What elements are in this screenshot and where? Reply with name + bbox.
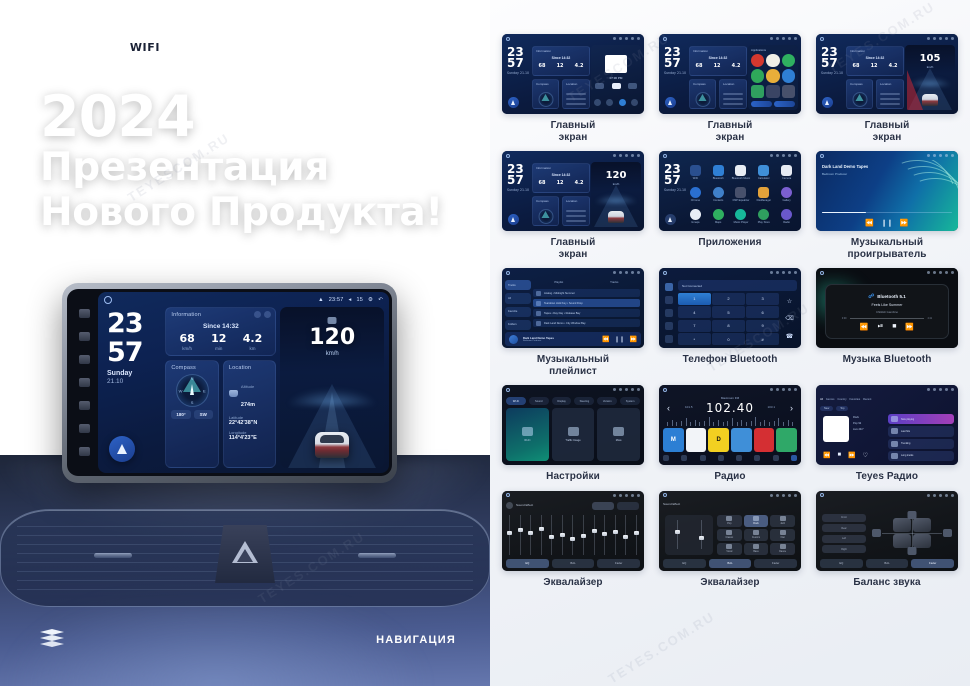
caption-line-1: Радио [714,471,745,482]
dial-key-1[interactable]: 1 [678,293,711,305]
side-key-power[interactable] [79,309,90,318]
app-camera[interactable]: Camera [776,162,797,182]
meta-station: Pop 92 [853,422,883,425]
app-icon-maps[interactable] [782,54,795,67]
preset-vocal[interactable]: Vocal [717,543,742,555]
grid-cell-apps[interactable]: 23 57 Sunday 21.10 WiFi Bluetooth Blueto… [659,151,801,260]
list-icon[interactable] [631,99,638,106]
latitude-value: 22°42'38"N [229,420,271,426]
sidebar-item-all[interactable]: All [505,293,531,303]
band-slider[interactable] [635,515,638,555]
slider-bass[interactable] [676,520,679,549]
thumb-location-lines [880,93,900,108]
app-drawer-grid[interactable]: WiFi Bluetooth Bluetooth Music Calculato… [685,162,797,227]
tab-playlist[interactable]: Playlist [533,280,585,287]
contacts-icon[interactable] [665,296,673,304]
grid-cell-equalizer-1[interactable]: Sound Effect [502,491,644,589]
device-side-buttons[interactable] [70,292,98,473]
sidebar-item-folders[interactable]: Folders [505,320,531,330]
compass-card[interactable]: Compass N S E W [165,360,219,468]
favorite-icon[interactable]: ♡ [863,452,868,459]
dial-key-3[interactable]: 3 [746,293,779,305]
search-icon[interactable] [665,309,673,317]
thumbnail-home-apps[interactable]: 23 57 Sunday 21.10 Information Since 14:… [659,34,801,114]
backspace-icon[interactable]: ⌫ [785,315,793,322]
tab-steering[interactable]: Steering [574,397,594,405]
station-name: Long tracks [901,454,913,457]
app-music-player[interactable]: Music Player [731,207,752,227]
tab-display[interactable]: Display [552,397,572,405]
list-item[interactable]: Last hits [888,426,954,436]
information-card[interactable]: Information Since 14:32 68 km/h [165,307,276,356]
preset-jazz[interactable]: Jazz [770,515,795,527]
balance-tabs[interactable]: EQ BAL Fader [820,559,954,568]
balance-down-button[interactable] [908,547,917,555]
app-icon-play-store[interactable] [751,85,764,98]
thumbnail-apps[interactable]: 23 57 Sunday 21.10 WiFi Bluetooth Blueto… [659,151,801,231]
thumb-stat-3: 4.2 [575,63,584,69]
compass-dial: N S E W [176,374,209,407]
teyes-radio-subtabs[interactable]: New Top [820,405,954,412]
band-slider[interactable] [571,515,574,555]
tab-bal[interactable]: BAL [552,559,595,568]
location-card[interactable]: Location Altitude 274m [223,360,277,468]
band-slider[interactable] [614,515,617,555]
thumb-compass-title: Compass [533,80,558,86]
dial-key-8[interactable]: 8 [712,320,745,332]
preset-flat[interactable]: Flat [770,529,795,541]
equalizer-header: Sound Effect [506,502,533,509]
thumbnail-equalizer-bands[interactable]: Sound Effect [502,491,644,571]
thumb-info-title: Information [533,164,589,170]
music-controls[interactable] [595,83,637,89]
phone-actions[interactable]: ☆ ⌫ ☎ [782,293,797,345]
thumb-drive-widget[interactable]: 105 km/h [905,45,955,110]
app-icon-contacts[interactable] [766,69,779,82]
list-item[interactable]: Analog • Midnight Summer [533,289,640,297]
app-label: WiFi [693,177,698,180]
tab-wifi[interactable]: Wi-Fi [506,397,526,405]
grid-cell-home-drive[interactable]: 23 57 Sunday 21.10 Information Since 14:… [502,151,644,260]
head-unit-device: ▲ 23:57 ◂ 15 ⚙ ↶ 23 57 Sunday [62,283,397,483]
pause-icon[interactable] [612,83,621,89]
playlist-list[interactable]: Playlist Tracks Analog • Midnight Summer… [533,280,640,330]
tab-eq[interactable]: EQ [820,559,863,568]
band-slider[interactable] [561,515,564,555]
settings-icon[interactable] [665,335,673,343]
preset-rock[interactable]: Rock [744,515,769,527]
stop-icon[interactable]: ■ [892,323,896,331]
radio-presets[interactable]: M D [663,428,797,452]
prev-icon[interactable]: ⏪ [823,452,830,459]
thumb-stat-1: 68 [853,63,860,69]
app-filemanager[interactable]: FileManager [753,184,774,204]
list-item[interactable]: Trending [888,439,954,449]
playlist-sidebar[interactable]: Tracks All Favorite Folders [505,280,531,330]
app-dsp-equalizer[interactable]: DSP Equalizer [731,184,752,204]
app-icon-grid[interactable] [782,85,795,98]
list-item[interactable]: Teardown Hold Key • Sound Drop [533,299,640,307]
app-icon-camera[interactable] [766,54,779,67]
app-radio[interactable]: Radio [776,207,797,227]
thumb-nav-fab[interactable] [665,97,676,108]
thumb-info-title: Information [533,47,589,53]
list-item[interactable]: Tapes • Day Day • Release Bay [533,309,640,317]
list-item[interactable]: Dark Land Demo • City Window Bay [533,319,640,327]
app-bluetooth-music[interactable]: Bluetooth Music [731,162,752,182]
app-icon-mail[interactable] [782,69,795,82]
loc-icon[interactable] [754,455,760,461]
teyes-radio-tabs[interactable]: All Genres Country Favorites Recent [820,396,954,403]
thumbnail-home-drive-red[interactable]: 23 57 Sunday 21.10 Information Since 14:… [816,34,958,114]
preset-6[interactable] [776,428,797,452]
status-volume-level: 15 [357,297,364,303]
next-icon[interactable]: ⏩ [900,219,909,227]
shuffle-icon[interactable] [594,99,601,106]
thumbnail-bluetooth-music[interactable]: ☍ Bluetooth 5.1 Feels Like Summer Childi… [816,268,958,348]
grid-cell-home-music[interactable]: 23 57 Sunday 21.10 Information Since 14:… [502,34,644,143]
track-artist: Childish Gambino [876,310,898,314]
music-extra-controls[interactable] [594,99,638,106]
dial-key-5[interactable]: 5 [712,306,745,318]
prev-icon[interactable] [595,83,604,89]
play-pause-icon[interactable]: ⏯ [878,323,884,331]
now-playing-text: Dark Land Demo Tapes Bedroom Producer [523,336,597,342]
app-icon-spotify[interactable] [751,69,764,82]
thumbnail-radio[interactable]: Maximum FM ‹ › 101.5 103.1 102.40 [659,385,801,465]
pause-icon[interactable]: ❙❙ [614,336,624,343]
thumb-clock-date: Sunday 21.10 [664,189,686,192]
altitude-value: 274m [241,402,255,408]
repeat-icon[interactable] [606,99,613,106]
hazard-button[interactable] [215,525,275,583]
radio-icon [781,209,792,220]
tab-eq[interactable]: EQ [663,559,706,568]
caption-line-1: Музыкальный [537,354,609,365]
star-icon[interactable]: ☆ [787,298,792,305]
thumb-drive-widget[interactable]: 120 km/h [591,162,641,227]
thumb-music-widget[interactable]: 07:30 PM [591,45,641,110]
back-button[interactable] [665,214,676,225]
dial-key-2[interactable]: 2 [712,293,745,305]
thumbnail-teyes-radio[interactable]: All Genres Country Favorites Recent New … [816,385,958,465]
app-icon-youtube[interactable] [751,54,764,67]
stop-icon[interactable]: ■ [837,452,841,459]
expand-icon[interactable] [264,311,271,318]
preset-3[interactable]: D [708,428,729,452]
dial-key-9[interactable]: 9 [746,320,779,332]
station-list[interactable]: Now playing Last hits Trending Long trac… [888,414,954,461]
thumb-clock-minutes: 57 [664,56,681,70]
tab-version[interactable]: Version [597,397,617,405]
device-screen[interactable]: ▲ 23:57 ◂ 15 ⚙ ↶ 23 57 Sunday [98,292,389,473]
preset-classic[interactable]: Classic [717,529,742,541]
eq-icon[interactable] [619,99,626,106]
speedometer-icon [328,317,337,324]
dialpad-icon[interactable] [665,283,673,291]
preset-label: Dance [779,550,786,553]
equalizer-tabs[interactable]: EQ BAL Fader [506,559,640,568]
grid-cell-phone[interactable]: Not Connected 1 2 3 4 5 6 7 8 9 * 0 [659,268,801,377]
maps-icon [713,209,724,220]
grid-cell-home-drive-red[interactable]: 23 57 Sunday 21.10 Information Since 14:… [816,34,958,143]
search-icon[interactable] [681,455,687,461]
tab-system[interactable]: System [620,397,640,405]
thumbnail-bluetooth-phone[interactable]: Not Connected 1 2 3 4 5 6 7 8 9 * 0 [659,268,801,348]
refresh-icon[interactable] [254,311,261,318]
subtab-top[interactable]: Top [836,406,848,411]
driving-view-widget[interactable]: 120 km/h [280,307,384,468]
balance-stage[interactable] [872,511,952,555]
app-chrome[interactable]: Chrome [685,184,706,204]
playback-controls[interactable]: ⏪ ⏯ ■ ⏩ [860,323,914,331]
home-circle-icon[interactable] [104,296,112,304]
station-thumb [891,416,898,422]
compass-north: N [191,376,194,381]
thumbnail-playlist[interactable]: Tracks All Favorite Folders Playlist Tra… [502,268,644,348]
speaker-layout [893,518,931,548]
preset-5[interactable] [754,428,775,452]
app-play-store[interactable]: Play Store [753,207,774,227]
thumbnail-home-drive[interactable]: 23 57 Sunday 21.10 Information Since 14:… [502,151,644,231]
app-gmaps[interactable]: Gmaps [685,207,706,227]
prev-icon[interactable]: ⏪ [602,336,609,343]
car-illustration [608,211,624,223]
tab-sound[interactable]: Sound [529,397,549,405]
tab-country[interactable]: Country [837,398,846,401]
side-key-back[interactable] [79,401,90,410]
app-maps[interactable]: Maps [708,207,729,227]
scan-icon[interactable] [718,455,724,461]
settings-card-traffic[interactable]: Traffic Usage [552,408,595,461]
band-slider[interactable] [519,515,522,555]
tab-genres[interactable]: Genres [826,398,835,401]
playlist-tabs[interactable]: Playlist Tracks [533,280,640,287]
preset-2[interactable] [686,428,707,452]
subtab-new[interactable]: New [820,406,833,411]
thumb-clock: 23 57 Sunday 21.10 [664,47,686,75]
caption: Приложения [698,237,761,249]
balance-up-button[interactable] [908,511,917,519]
sidebar-item-tracks[interactable]: Tracks [505,280,531,290]
thumb-status-bar [659,491,801,500]
preset-chip[interactable] [617,502,639,510]
preset-custom[interactable]: Custom [744,529,769,541]
pause-icon[interactable]: ❙❙ [881,219,893,227]
caption: Главный экран [551,120,596,143]
app-bluetooth[interactable]: Bluetooth [708,162,729,182]
app-label: FileManager [757,199,771,202]
balance-right-button[interactable] [943,529,952,537]
thumb-apps-panel[interactable]: Applications [748,45,798,110]
app-label: Calculator [758,177,770,180]
grid-cell-equalizer-2[interactable]: Sound Effect Pop Rock Jazz Classic Custo… [659,491,801,589]
thumbnail-home-music[interactable]: 23 57 Sunday 21.10 Information Since 14:… [502,34,644,114]
compass-west: W [179,388,183,393]
grid-cell-btmusic[interactable]: ☍ Bluetooth 5.1 Feels Like Summer Childi… [816,268,958,377]
side-key-settings[interactable] [79,355,90,364]
thumbnail-equalizer-presets[interactable]: Sound Effect Pop Rock Jazz Classic Custo… [659,491,801,571]
sidebar-item-favorite[interactable]: Favorite [505,307,531,317]
navigation-fab-button[interactable] [109,436,135,462]
station-thumb [891,441,898,447]
trip-stat-time: 12 min [211,333,226,351]
caption: Эквалайзер [700,577,759,589]
band-slider[interactable] [550,515,553,555]
equalizer-tabs[interactable]: EQ BAL Fader [663,559,797,568]
band-icon[interactable] [663,455,669,461]
grid-cell-playlist[interactable]: Tracks All Favorite Folders Playlist Tra… [502,268,644,377]
grid-cell-balance[interactable]: Front Rear Left Right [816,491,958,589]
grid-cell-teyes-radio[interactable]: All Genres Country Favorites Recent New … [816,385,958,483]
caption-line-2: экран [559,132,588,143]
band-slider[interactable] [529,515,532,555]
balance-left-button[interactable] [872,529,881,537]
call-icon[interactable]: ☎ [786,333,793,340]
prev-icon[interactable]: ⏪ [865,219,874,227]
settings-tabs[interactable]: Wi-Fi Sound Display Steering Version Sys… [506,397,640,405]
app-calculator[interactable]: Calculator [753,162,774,182]
prev-icon[interactable]: ⏪ [860,323,869,331]
caption-line-1: Эквалайзер [700,577,759,588]
file-manager-icon [758,187,769,198]
headline-year: 2024 [40,88,460,146]
settings-card-wifi[interactable]: Wi-Fi [506,408,549,461]
seek-bar[interactable] [822,212,952,214]
app-contacts[interactable]: Contacts [708,184,729,204]
grid-cell-music[interactable]: Dark Land Demo Tapes Bedroom Producer ⏪ … [816,151,958,260]
caption-line-2: экран [873,132,902,143]
thumbnail-music-player[interactable]: Dark Land Demo Tapes Bedroom Producer ⏪ … [816,151,958,231]
preset-dance[interactable]: Dance [770,543,795,555]
back-icon[interactable]: ↶ [378,297,383,303]
card-label: More [616,439,622,442]
dial-key-4[interactable]: 4 [678,306,711,318]
app-wifi[interactable]: WiFi [685,162,706,182]
thumb-nav-fab[interactable] [508,97,519,108]
tab-fader[interactable]: Fader [754,559,797,568]
settings-icon[interactable] [773,455,779,461]
tab-all[interactable]: All [820,398,823,401]
thumbnail-sound-balance[interactable]: Front Rear Left Right [816,491,958,571]
radio-toolbar[interactable] [663,454,797,462]
equalizer-preset-grid[interactable]: Pop Rock Jazz Classic Custom Flat Vocal … [717,515,795,555]
next-icon[interactable]: ⏩ [630,336,637,343]
thumb-location-title: Location [563,197,589,203]
call-history-icon[interactable] [665,322,673,330]
list-icon[interactable] [791,455,797,461]
apps-panel-pills[interactable] [751,101,795,107]
next-icon[interactable] [628,83,637,89]
band-slider[interactable] [582,515,585,555]
location-card-title: Location [229,365,271,371]
grid-cell-home-apps[interactable]: 23 57 Sunday 21.10 Information Since 14:… [659,34,801,143]
gear-icon[interactable]: ⚙ [368,297,373,303]
thumb-compass-card: Compass [846,79,873,109]
grid-cell-settings[interactable]: Wi-Fi Sound Display Steering Version Sys… [502,385,644,483]
preset-chip-active[interactable] [592,502,614,510]
dial-key-7[interactable]: 7 [678,320,711,332]
tab-fader[interactable]: Fader [911,559,954,568]
station-name: Last hits [901,430,910,433]
tab-recent[interactable]: Recent [863,398,871,401]
side-key-home[interactable] [79,378,90,387]
equalizer-sliders[interactable] [665,515,713,555]
settings-card-more[interactable]: More [597,408,640,461]
side-key-mute[interactable] [79,332,90,341]
app-icon-settings[interactable] [766,85,779,98]
preset-1[interactable]: M [663,428,684,452]
dialpad[interactable]: 1 2 3 4 5 6 7 8 9 * 0 # [678,293,779,345]
caption-line-1: Телефон Bluetooth [683,354,778,365]
thumb-nav-fab[interactable] [508,214,519,225]
dial-key-0[interactable]: 0 [712,333,745,345]
app-label: Contacts [713,199,723,202]
caption-line-1: Настройки [546,471,600,482]
tab-bal[interactable]: BAL [866,559,909,568]
band-slider[interactable] [603,515,606,555]
band-slider[interactable] [508,515,511,555]
playback-controls[interactable]: ⏪ ❙❙ ⏩ [822,219,952,227]
seek-progress [822,212,866,214]
phone-sidebar[interactable] [662,280,676,345]
am-fm-icon[interactable] [700,455,706,461]
band-slider[interactable] [624,515,627,555]
now-playing-bar[interactable]: Dark Land Demo Tapes Bedroom Producer ⏪ … [505,332,641,346]
list-item[interactable]: Now playing [888,414,954,424]
trip-stats: 68 km/h 12 min 4.2 km [171,333,270,351]
dial-key-6[interactable]: 6 [746,306,779,318]
tab-favorites[interactable]: Favorites [850,398,861,401]
preset-4[interactable] [731,428,752,452]
thumbnail-settings[interactable]: Wi-Fi Sound Display Steering Version Sys… [502,385,644,465]
next-icon[interactable]: ⏩ [905,323,914,331]
dial-key-hash[interactable]: # [746,333,779,345]
thumb-nav-fab[interactable] [822,97,833,108]
camera-icon [781,165,792,176]
playback-controls[interactable]: ⏪ ■ ⏩ ♡ [823,452,883,459]
preset-pop[interactable]: Pop [717,515,742,527]
slider-treble[interactable] [700,520,703,549]
tab-eq[interactable]: EQ [506,559,549,568]
tab-tracks[interactable]: Tracks [589,280,641,287]
tab-fader[interactable]: Fader [597,559,640,568]
band-slider[interactable] [540,515,543,555]
band-slider[interactable] [593,515,596,555]
location-altitude-row: Altitude 274m [229,375,271,411]
grid-cell-radio[interactable]: Maximum FM ‹ › 101.5 103.1 102.40 [659,385,801,483]
volume-icon[interactable]: ◂ [349,297,352,303]
seek-bar[interactable]: 0:00 4:41 [842,317,932,320]
tuning-dial[interactable] [667,417,793,426]
side-key-volume-up[interactable] [79,447,90,456]
compass-south: S [191,400,194,405]
equalizer-bands[interactable] [508,515,638,555]
app-gallery[interactable]: Gallery [776,184,797,204]
settings-cards[interactable]: Wi-Fi Traffic Usage More [506,408,640,461]
rds-icon[interactable] [736,455,742,461]
preset-bass[interactable]: Bass [744,543,769,555]
side-key-volume-down[interactable] [79,424,90,433]
thumb-status-bar [816,151,958,160]
next-icon[interactable]: ⏩ [848,452,855,459]
information-card-actions[interactable] [254,311,271,318]
tab-bal[interactable]: BAL [709,559,752,568]
location-longitude-row: Longitude 114°4'23"E [229,430,271,441]
balance-values: Front Rear Left Right [822,513,866,555]
dial-key-star[interactable]: * [678,333,711,345]
list-item[interactable]: Long tracks [888,451,954,461]
